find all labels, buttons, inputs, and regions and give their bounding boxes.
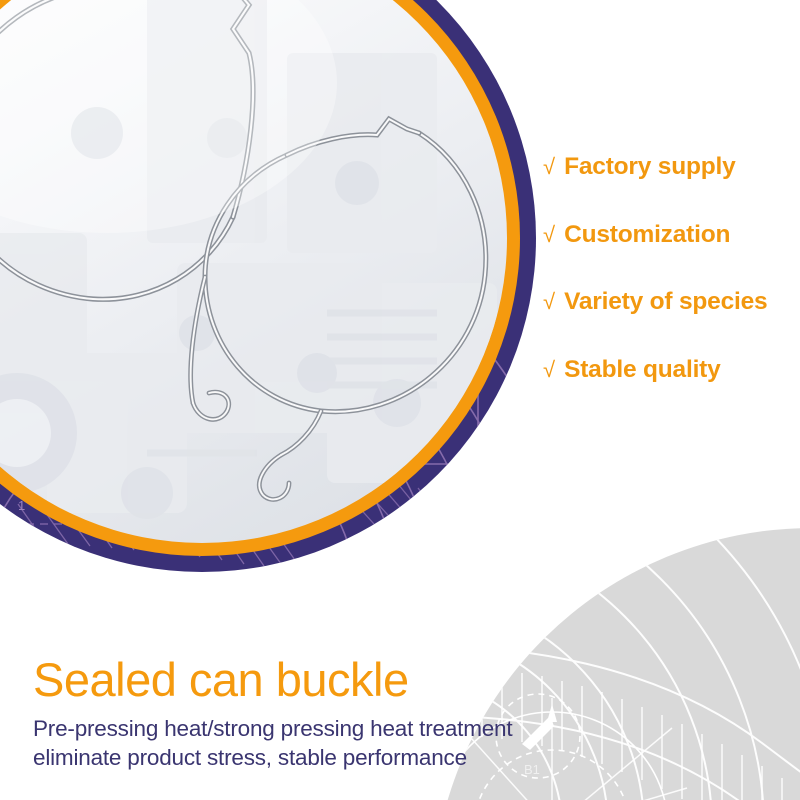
product-title: Sealed can buckle <box>33 655 512 704</box>
feature-list: √ Factory supply √ Customization √ Varie… <box>543 155 793 425</box>
checkmark-icon: √ <box>543 156 555 178</box>
feature-label: Factory supply <box>564 155 735 180</box>
feature-item-factory-supply: √ Factory supply <box>543 155 793 180</box>
feature-item-variety-of-species: √ Variety of species <box>543 290 793 315</box>
poster-canvas: B2 B3 B1 K1 2 3 4 DING <box>0 0 800 800</box>
subtitle-line-1: Pre-pressing heat/strong pressing heat t… <box>33 715 512 743</box>
checkmark-icon: √ <box>543 291 555 313</box>
subtitle-line-2: eliminate product stress, stable perform… <box>33 744 512 772</box>
feature-label: Customization <box>564 223 730 248</box>
feature-item-customization: √ Customization <box>543 223 793 248</box>
feature-item-stable-quality: √ Stable quality <box>543 358 793 383</box>
feature-label: Stable quality <box>564 358 721 383</box>
headline-block: Sealed can buckle Pre-pressing heat/stro… <box>33 655 512 772</box>
checkmark-icon: √ <box>543 224 555 246</box>
product-subtitle: Pre-pressing heat/strong pressing heat t… <box>33 715 512 772</box>
svg-text:B1: B1 <box>524 762 540 777</box>
product-photo <box>0 0 507 543</box>
checkmark-icon: √ <box>543 359 555 381</box>
feature-label: Variety of species <box>564 290 767 315</box>
